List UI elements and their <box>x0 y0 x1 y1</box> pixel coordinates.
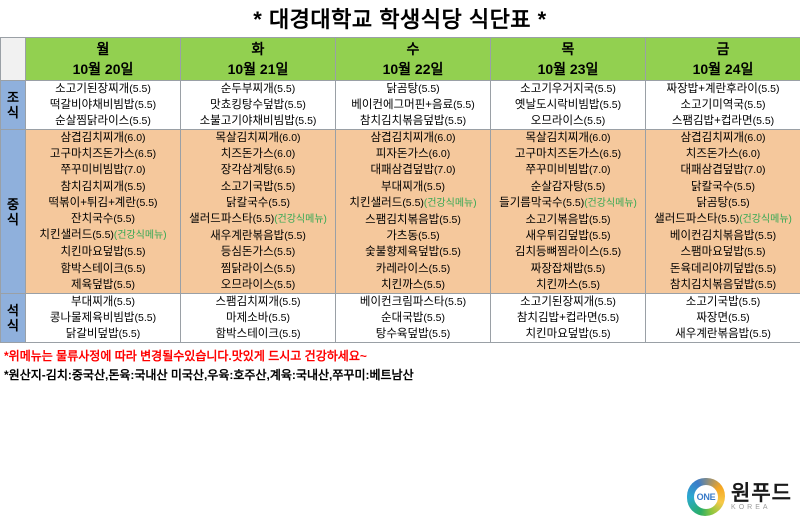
menu-item-price: (5.5) <box>753 115 775 127</box>
menu-item: 베이컨김치볶음밥(5.5) <box>646 228 800 244</box>
menu-item: 치즈돈가스(6.0) <box>181 146 335 162</box>
menu-cell: 짜장밥+계란후라이(5.5)소고기미역국(5.5)스팸김밥+컵라면(5.5) <box>646 81 800 130</box>
menu-item-name: 소고기우거지국 <box>520 83 594 95</box>
menu-item: 삼겹김치찌개(6.0) <box>646 130 800 146</box>
menu-item-name: 오므라이스 <box>531 115 584 127</box>
day-header-thu: 목 10월 23일 <box>491 38 646 81</box>
menu-item-name: 오므라이스 <box>221 279 274 291</box>
menu-item-price: (5.5) <box>453 99 475 111</box>
menu-item-price: (5.5) <box>135 312 157 324</box>
menu-item-price: (5.5) <box>113 279 135 291</box>
menu-item-price: (5.5) <box>279 328 301 340</box>
menu-item-price: (7.0) <box>124 164 146 176</box>
menu-item-name: 부대찌개 <box>381 181 423 193</box>
menu-item: 소고기국밥(5.5) <box>181 179 335 195</box>
menu-item-name: 새우계란볶음밥 <box>675 328 749 340</box>
onefood-logo: ONE 원푸드 KOREA <box>687 478 792 516</box>
menu-item-name: 닭곰탕 <box>386 83 418 95</box>
menu-item-name: 스팸김치찌개 <box>215 296 278 308</box>
day-of-week: 금 <box>646 40 800 59</box>
menu-item: 탕수육덮밥(5.5) <box>336 326 490 342</box>
menu-item-price: (5.5) <box>728 312 750 324</box>
menu-item: 고구마치즈돈가스(6.5) <box>26 146 180 162</box>
health-menu-tag: (건강식메뉴) <box>739 214 792 225</box>
note-menu-change: *위메뉴는 물류사정에 따라 변경될수있습니다.맛있게 드시고 건강하세요~ <box>4 347 796 366</box>
menu-item: 닭칼국수(5.5) <box>646 179 800 195</box>
menu-item-name: 스팸김치볶음밥 <box>365 214 439 226</box>
meal-label-char: 식 <box>1 318 25 333</box>
menu-item: 등심돈가스(5.5) <box>181 244 335 260</box>
menu-item-name: 삼겹김치찌개 <box>680 132 743 144</box>
menu-item: 소고기볶음밥(5.5) <box>491 212 645 228</box>
menu-item-price: (5.5) <box>594 83 616 95</box>
menu-item-price: (6.0) <box>589 132 611 144</box>
menu-item: 치킨까스(5.5) <box>336 277 490 293</box>
menu-item-name: 샐러드파스타 <box>189 213 252 225</box>
menu-item-price: (5.5) <box>755 279 777 291</box>
menu-item: 베이컨에그머핀+음료(5.5) <box>336 97 490 113</box>
menu-item-name: 가츠동 <box>386 230 418 242</box>
menu-item-name: 들기름막국수 <box>499 197 562 209</box>
menu-item: 새우계란볶음밥(5.5) <box>181 228 335 244</box>
menu-item: 잔치국수(5.5) <box>26 211 180 227</box>
menu-item-price: (5.5) <box>124 263 146 275</box>
menu-item: 순살찜닭라이스(5.5) <box>26 113 180 129</box>
menu-item-price: (5.5) <box>584 263 606 275</box>
menu-item-price: (5.5) <box>718 213 740 225</box>
menu-item: 치킨샐러드(5.5)(건강식메뉴) <box>336 195 490 212</box>
menu-item-name: 소고기미역국 <box>680 99 743 111</box>
menu-item-name: 장각삼계탕 <box>221 164 274 176</box>
menu-item-name: 스팸마요덮밥 <box>680 246 743 258</box>
menu-item: 참치김밥+컵라면(5.5) <box>491 310 645 326</box>
menu-cell: 목살김치찌개(6.0)치즈돈가스(6.0)장각삼계탕(6.5)소고기국밥(5.5… <box>181 130 336 294</box>
menu-item: 옛날도시락비빔밥(5.5) <box>491 97 645 113</box>
menu-item-name: 참치김밥+컵라면 <box>517 312 598 324</box>
menu-item-name: 닭곰탕 <box>696 197 728 209</box>
menu-cell: 스팸김치찌개(5.5)마제소바(5.5)함박스테이크(5.5) <box>181 294 336 343</box>
menu-item: 치킨샐러드(5.5)(건강식메뉴) <box>26 227 180 244</box>
menu-item: 소고기우거지국(5.5) <box>491 81 645 97</box>
menu-item-price: (5.5) <box>92 229 114 241</box>
menu-item: 소고기미역국(5.5) <box>646 97 800 113</box>
menu-cell: 목살김치찌개(6.0)고구마치즈돈가스(6.5)쭈꾸미비빔밥(7.0)순살감자탕… <box>491 130 646 294</box>
menu-item: 마제소바(5.5) <box>181 310 335 326</box>
menu-item-name: 치즈돈가스 <box>686 148 739 160</box>
menu-item: 장각삼계탕(6.5) <box>181 162 335 178</box>
menu-item: 순대국밥(5.5) <box>336 310 490 326</box>
menu-item-price: (5.5) <box>274 181 296 193</box>
menu-item: 들기름막국수(5.5)(건강식메뉴) <box>491 195 645 212</box>
menu-cell: 삼겹김치찌개(6.0)피자돈가스(6.0)대패삼겹덮밥(7.0)부대찌개(5.5… <box>336 130 491 294</box>
menu-item-price: (5.5) <box>113 296 135 308</box>
menu-item-price: (5.5) <box>439 246 461 258</box>
menu-item: 떡볶이+튀김+계란(5.5) <box>26 195 180 211</box>
menu-item-price: (5.5) <box>584 181 606 193</box>
menu-item-name: 마제소바 <box>226 312 268 324</box>
menu-item-price: (5.5) <box>439 214 461 226</box>
menu-table: 월 10월 20일 화 10월 21일 수 10월 22일 목 10월 23일 … <box>0 37 800 343</box>
menu-item-name: 돈육데리야끼덮밥 <box>670 263 755 275</box>
menu-item: 소고기국밥(5.5) <box>646 294 800 310</box>
menu-item-price: (5.5) <box>429 263 451 275</box>
menu-item: 새우튀김덮밥(5.5) <box>491 228 645 244</box>
menu-item: 닭갈비덮밥(5.5) <box>26 326 180 342</box>
menu-item-price: (5.5) <box>445 296 467 308</box>
meal-label-char: 석 <box>1 303 25 318</box>
meal-label-breakfast: 조식 <box>1 81 26 130</box>
menu-item-name: 치킨샐러드 <box>39 229 92 241</box>
health-menu-tag: (건강식메뉴) <box>424 198 477 209</box>
menu-item-price: (6.0) <box>279 132 301 144</box>
menu-item: 치킨마요덮밥(5.5) <box>26 244 180 260</box>
menu-item: 샐러드파스타(5.5)(건강식메뉴) <box>181 211 335 228</box>
corner-cell <box>1 38 26 81</box>
menu-item: 치킨마요덮밥(5.5) <box>491 326 645 342</box>
menu-item: 가츠동(5.5) <box>336 228 490 244</box>
day-date: 10월 20일 <box>26 59 180 79</box>
menu-item-price: (7.0) <box>744 164 766 176</box>
menu-item: 샐러드파스타(5.5)(건강식메뉴) <box>646 211 800 228</box>
menu-item-price: (5.5) <box>600 99 622 111</box>
menu-item-price: (5.5) <box>594 296 616 308</box>
title-bar: * 대경대학교 학생식당 식단표 * <box>0 0 800 37</box>
menu-item-name: 목살김치찌개 <box>525 132 588 144</box>
menu-item-name: 숯불향제육덮밥 <box>365 246 439 258</box>
menu-item-name: 소불고기야채비빔밥 <box>200 115 295 127</box>
menu-item: 대패삼겹덮밥(7.0) <box>336 162 490 178</box>
menu-item: 소불고기야채비빔밥(5.5) <box>181 113 335 129</box>
menu-item: 고구마치즈돈가스(6.5) <box>491 146 645 162</box>
logo-wordmark: 원푸드 KOREA <box>731 483 792 511</box>
meal-row-lunch: 중식삼겹김치찌개(6.0)고구마치즈돈가스(6.5)쭈꾸미비빔밥(7.0)참치김… <box>1 130 800 294</box>
menu-item-name: 짜장면 <box>696 312 728 324</box>
menu-item-price: (5.5) <box>274 83 296 95</box>
meal-label-char: 식 <box>1 212 25 227</box>
menu-item-name: 치킨마요덮밥 <box>525 328 588 340</box>
menu-item-price: (6.5) <box>135 148 157 160</box>
menu-item: 치즈돈가스(6.0) <box>646 146 800 162</box>
menu-item-price: (5.5) <box>279 296 301 308</box>
health-menu-tag: (건강식메뉴) <box>274 214 327 225</box>
day-header-mon: 월 10월 20일 <box>26 38 181 81</box>
menu-item-price: (6.5) <box>274 164 296 176</box>
menu-item-name: 맛쵸킹탕수덮밥 <box>210 99 284 111</box>
menu-item-name: 참치김치볶음덮밥 <box>360 115 445 127</box>
menu-item: 닭곰탕(5.5) <box>336 81 490 97</box>
menu-cell: 부대찌개(5.5)콩나물제육비빔밥(5.5)닭갈비덮밥(5.5) <box>26 294 181 343</box>
day-of-week: 목 <box>491 40 645 59</box>
menu-item-price: (5.5) <box>418 83 440 95</box>
menu-item: 치킨까스(5.5) <box>491 277 645 293</box>
menu-item-name: 고구마치즈돈가스 <box>515 148 600 160</box>
menu-item-price: (5.5) <box>429 328 451 340</box>
logo-mark-text: ONE <box>697 492 716 502</box>
menu-item-name: 제육덮밥 <box>71 279 113 291</box>
day-header-wed: 수 10월 22일 <box>336 38 491 81</box>
day-of-week: 화 <box>181 40 335 59</box>
menu-item-price: (5.5) <box>129 83 151 95</box>
menu-item-price: (5.5) <box>119 328 141 340</box>
meal-label-dinner: 석식 <box>1 294 26 343</box>
menu-item-price: (5.5) <box>563 197 585 209</box>
menu-item-price: (5.5) <box>295 115 317 127</box>
menu-item-price: (6.0) <box>744 132 766 144</box>
menu-item: 부대찌개(5.5) <box>26 294 180 310</box>
logo-name-kr: 원푸드 <box>731 483 792 504</box>
table-header-row: 월 10월 20일 화 10월 21일 수 10월 22일 목 10월 23일 … <box>1 38 800 81</box>
menu-item-price: (5.5) <box>739 296 761 308</box>
menu-item-name: 샐러드파스타 <box>654 213 717 225</box>
menu-item-price: (7.0) <box>589 164 611 176</box>
menu-item-name: 카레라이스 <box>376 263 429 275</box>
menu-item-name: 옛날도시락비빔밥 <box>515 99 600 111</box>
menu-item-name: 닭칼국수 <box>226 197 268 209</box>
menu-item-price: (5.5) <box>445 115 467 127</box>
menu-item-name: 잔치국수 <box>71 213 113 225</box>
menu-item: 콩나물제육비빔밥(5.5) <box>26 310 180 326</box>
menu-item-price: (5.5) <box>268 197 290 209</box>
menu-item: 오므라이스(5.5) <box>181 277 335 293</box>
menu-item-price: (5.5) <box>402 197 424 209</box>
menu-item: 짜장잡채밥(5.5) <box>491 261 645 277</box>
menu-item-price: (6.0) <box>434 132 456 144</box>
footer-notes: *위메뉴는 물류사정에 따라 변경될수있습니다.맛있게 드시고 건강하세요~ *… <box>0 343 800 385</box>
menu-item: 부대찌개(5.5) <box>336 179 490 195</box>
menu-item: 삼겹김치찌개(6.0) <box>336 130 490 146</box>
menu-item-price: (5.5) <box>423 181 445 193</box>
menu-item-name: 피자돈가스 <box>376 148 429 160</box>
day-of-week: 월 <box>26 40 180 59</box>
menu-item: 짜장밥+계란후라이(5.5) <box>646 81 800 97</box>
menu-item: 맛쵸킹탕수덮밥(5.5) <box>181 97 335 113</box>
menu-item: 김치등뼈찜라이스(5.5) <box>491 244 645 260</box>
menu-item-price: (5.5) <box>584 115 606 127</box>
menu-item-price: (5.5) <box>124 181 146 193</box>
menu-item-price: (6.0) <box>124 132 146 144</box>
note-origin: *원산지-김치:중국산,돈육:국내산 미국산,우육:호주산,계육:국내산,쭈꾸미… <box>4 366 796 385</box>
menu-item: 스팸김밥+컵라면(5.5) <box>646 113 800 129</box>
menu-item: 소고기된장찌개(5.5) <box>491 294 645 310</box>
menu-item: 새우계란볶음밥(5.5) <box>646 326 800 342</box>
day-date: 10월 24일 <box>646 59 800 79</box>
menu-item-price: (5.5) <box>274 263 296 275</box>
menu-cell: 베이컨크림파스타(5.5)순대국밥(5.5)탕수육덮밥(5.5) <box>336 294 491 343</box>
menu-item-name: 목살김치찌개 <box>215 132 278 144</box>
menu-item-price: (5.5) <box>744 246 766 258</box>
menu-item-price: (5.5) <box>744 99 766 111</box>
menu-item-price: (5.5) <box>418 230 440 242</box>
menu-item-price: (5.5) <box>589 230 611 242</box>
menu-item: 돈육데리야끼덮밥(5.5) <box>646 261 800 277</box>
menu-item-name: 참치김치찌개 <box>60 181 123 193</box>
menu-item-name: 치즈돈가스 <box>221 148 274 160</box>
menu-item-name: 콩나물제육비빔밥 <box>50 312 135 324</box>
menu-item-name: 함박스테이크 <box>60 263 123 275</box>
menu-cell: 삼겹김치찌개(6.0)치즈돈가스(6.0)대패삼겹덮밥(7.0)닭칼국수(5.5… <box>646 130 800 294</box>
menu-item: 짜장면(5.5) <box>646 310 800 326</box>
menu-item-price: (6.5) <box>600 148 622 160</box>
menu-item-name: 소고기국밥 <box>686 296 739 308</box>
meal-label-char: 중 <box>1 197 25 212</box>
menu-item-name: 부대찌개 <box>71 296 113 308</box>
menu-item-name: 소고기볶음밥 <box>525 214 588 226</box>
menu-item: 목살김치찌개(6.0) <box>181 130 335 146</box>
menu-item-price: (5.5) <box>124 246 146 258</box>
menu-item-name: 치킨까스 <box>536 279 578 291</box>
menu-item-price: (5.5) <box>589 214 611 226</box>
menu-item-name: 순두부찌개 <box>221 83 274 95</box>
menu-item-name: 김치등뼈찜라이스 <box>515 246 600 258</box>
menu-cell: 소고기국밥(5.5)짜장면(5.5)새우계란볶음밥(5.5) <box>646 294 800 343</box>
menu-item: 찜닭라이스(5.5) <box>181 261 335 277</box>
menu-item-price: (5.5) <box>268 312 290 324</box>
menu-item-price: (5.5) <box>274 279 296 291</box>
menu-item-name: 등심돈가스 <box>221 246 274 258</box>
menu-item-name: 대패삼겹덮밥 <box>680 164 743 176</box>
page-title: * 대경대학교 학생식당 식단표 * <box>253 2 546 34</box>
meal-row-dinner: 석식부대찌개(5.5)콩나물제육비빔밥(5.5)닭갈비덮밥(5.5)스팸김치찌개… <box>1 294 800 343</box>
menu-item-price: (5.5) <box>274 246 296 258</box>
menu-item: 참치김치볶음덮밥(5.5) <box>646 277 800 293</box>
menu-item-name: 소고기된장찌개 <box>55 83 129 95</box>
menu-item-name: 짜장밥+계란후라이 <box>667 83 758 95</box>
menu-item: 참치김치찌개(5.5) <box>26 179 180 195</box>
menu-item-price: (5.5) <box>758 83 780 95</box>
menu-item-name: 치킨까스 <box>381 279 423 291</box>
menu-item-name: 함박스테이크 <box>215 328 278 340</box>
health-menu-tag: (건강식메뉴) <box>114 230 167 241</box>
menu-item-price: (5.5) <box>728 197 750 209</box>
menu-item-name: 탕수육덮밥 <box>376 328 429 340</box>
menu-item-name: 닭갈비덮밥 <box>66 328 119 340</box>
menu-item: 베이컨크림파스타(5.5) <box>336 294 490 310</box>
health-menu-tag: (건강식메뉴) <box>584 198 637 209</box>
menu-item-price: (5.5) <box>113 213 135 225</box>
menu-item: 목살김치찌개(6.0) <box>491 130 645 146</box>
menu-item-name: 치킨마요덮밥 <box>60 246 123 258</box>
menu-item: 닭칼국수(5.5) <box>181 195 335 211</box>
menu-item-price: (5.5) <box>598 312 620 324</box>
menu-item-price: (5.5) <box>578 279 600 291</box>
menu-item-name: 고구마치즈돈가스 <box>50 148 135 160</box>
menu-item-price: (6.0) <box>739 148 761 160</box>
menu-item: 소고기된장찌개(5.5) <box>26 81 180 97</box>
menu-item-name: 닭칼국수 <box>691 181 733 193</box>
menu-item: 스팸마요덮밥(5.5) <box>646 244 800 260</box>
menu-item: 제육덮밥(5.5) <box>26 277 180 293</box>
menu-item-name: 떡갈비야채비빔밥 <box>50 99 135 111</box>
menu-item-price: (5.5) <box>423 312 445 324</box>
ring-hole: ONE <box>694 485 718 509</box>
menu-item-price: (5.5) <box>600 246 622 258</box>
menu-item-name: 대패삼겹덮밥 <box>370 164 433 176</box>
menu-item: 스팸김치찌개(5.5) <box>181 294 335 310</box>
menu-item-price: (5.5) <box>253 213 275 225</box>
menu-cell: 순두부찌개(5.5)맛쵸킹탕수덮밥(5.5)소불고기야채비빔밥(5.5) <box>181 81 336 130</box>
menu-cell: 닭곰탕(5.5)베이컨에그머핀+음료(5.5)참치김치볶음덮밥(5.5) <box>336 81 491 130</box>
menu-item: 오므라이스(5.5) <box>491 113 645 129</box>
menu-item-price: (5.5) <box>284 230 306 242</box>
menu-item-name: 삼겹김치찌개 <box>60 132 123 144</box>
menu-item-name: 베이컨에그머핀+음료 <box>351 99 453 111</box>
menu-item-price: (5.5) <box>589 328 611 340</box>
menu-item: 대패삼겹덮밥(7.0) <box>646 162 800 178</box>
menu-cell: 소고기된장찌개(5.5)떡갈비야채비빔밥(5.5)순살찜닭라이스(5.5) <box>26 81 181 130</box>
menu-item-price: (7.0) <box>434 164 456 176</box>
menu-item-price: (5.5) <box>749 328 771 340</box>
menu-item-name: 순살찜닭라이스 <box>55 115 129 127</box>
menu-item-name: 쭈꾸미비빔밥 <box>525 164 588 176</box>
logo-name-en: KOREA <box>731 504 792 511</box>
menu-item-price: (5.5) <box>755 230 777 242</box>
menu-item-name: 베이컨크림파스타 <box>360 296 445 308</box>
menu-item-name: 치킨샐러드 <box>349 197 402 209</box>
menu-item-name: 새우튀김덮밥 <box>525 230 588 242</box>
menu-item: 떡갈비야채비빔밥(5.5) <box>26 97 180 113</box>
menu-item-name: 소고기국밥 <box>221 181 274 193</box>
menu-item: 피자돈가스(6.0) <box>336 146 490 162</box>
day-header-tue: 화 10월 21일 <box>181 38 336 81</box>
menu-item: 쭈꾸미비빔밥(7.0) <box>491 162 645 178</box>
meal-label-lunch: 중식 <box>1 130 26 294</box>
menu-item-name: 베이컨김치볶음밥 <box>670 230 755 242</box>
menu-item-name: 짜장잡채밥 <box>531 263 584 275</box>
menu-cell: 삼겹김치찌개(6.0)고구마치즈돈가스(6.5)쭈꾸미비빔밥(7.0)참치김치찌… <box>26 130 181 294</box>
day-header-fri: 금 10월 24일 <box>646 38 800 81</box>
menu-item: 순살감자탕(5.5) <box>491 179 645 195</box>
menu-item-price: (5.5) <box>136 197 158 209</box>
menu-cell: 소고기된장찌개(5.5)참치김밥+컵라면(5.5)치킨마요덮밥(5.5) <box>491 294 646 343</box>
menu-item: 참치김치볶음덮밥(5.5) <box>336 113 490 129</box>
menu-item: 함박스테이크(5.5) <box>26 261 180 277</box>
one-ring-icon: ONE <box>687 478 725 516</box>
menu-item-price: (5.5) <box>284 99 306 111</box>
menu-item-price: (6.0) <box>274 148 296 160</box>
menu-item: 스팸김치볶음밥(5.5) <box>336 212 490 228</box>
menu-item-name: 스팸김밥+컵라면 <box>672 115 753 127</box>
meal-label-char: 식 <box>1 105 25 120</box>
menu-item: 숯불향제육덮밥(5.5) <box>336 244 490 260</box>
menu-item-price: (5.5) <box>755 263 777 275</box>
day-date: 10월 21일 <box>181 59 335 79</box>
menu-item: 순두부찌개(5.5) <box>181 81 335 97</box>
menu-item-price: (5.5) <box>129 115 151 127</box>
menu-item: 함박스테이크(5.5) <box>181 326 335 342</box>
menu-body: 조식소고기된장찌개(5.5)떡갈비야채비빔밥(5.5)순살찜닭라이스(5.5)순… <box>1 81 800 343</box>
menu-item-name: 찜닭라이스 <box>221 263 274 275</box>
menu-item-price: (6.0) <box>429 148 451 160</box>
menu-item-name: 소고기된장찌개 <box>520 296 594 308</box>
menu-cell: 소고기우거지국(5.5)옛날도시락비빔밥(5.5)오므라이스(5.5) <box>491 81 646 130</box>
menu-board: * 대경대학교 학생식당 식단표 * 월 10월 20일 화 10월 21일 수… <box>0 0 800 526</box>
menu-item-name: 새우계란볶음밥 <box>210 230 284 242</box>
menu-item-name: 떡볶이+튀김+계란 <box>48 197 136 209</box>
menu-item-name: 쭈꾸미비빔밥 <box>60 164 123 176</box>
meal-label-char: 조 <box>1 90 25 105</box>
menu-item-name: 삼겹김치찌개 <box>370 132 433 144</box>
day-of-week: 수 <box>336 40 490 59</box>
menu-item-price: (5.5) <box>733 181 755 193</box>
menu-item-price: (5.5) <box>135 99 157 111</box>
menu-item-name: 참치김치볶음덮밥 <box>670 279 755 291</box>
menu-item-name: 순대국밥 <box>381 312 423 324</box>
menu-item-name: 순살감자탕 <box>531 181 584 193</box>
meal-row-breakfast: 조식소고기된장찌개(5.5)떡갈비야채비빔밥(5.5)순살찜닭라이스(5.5)순… <box>1 81 800 130</box>
day-date: 10월 23일 <box>491 59 645 79</box>
day-date: 10월 22일 <box>336 59 490 79</box>
menu-item: 삼겹김치찌개(6.0) <box>26 130 180 146</box>
